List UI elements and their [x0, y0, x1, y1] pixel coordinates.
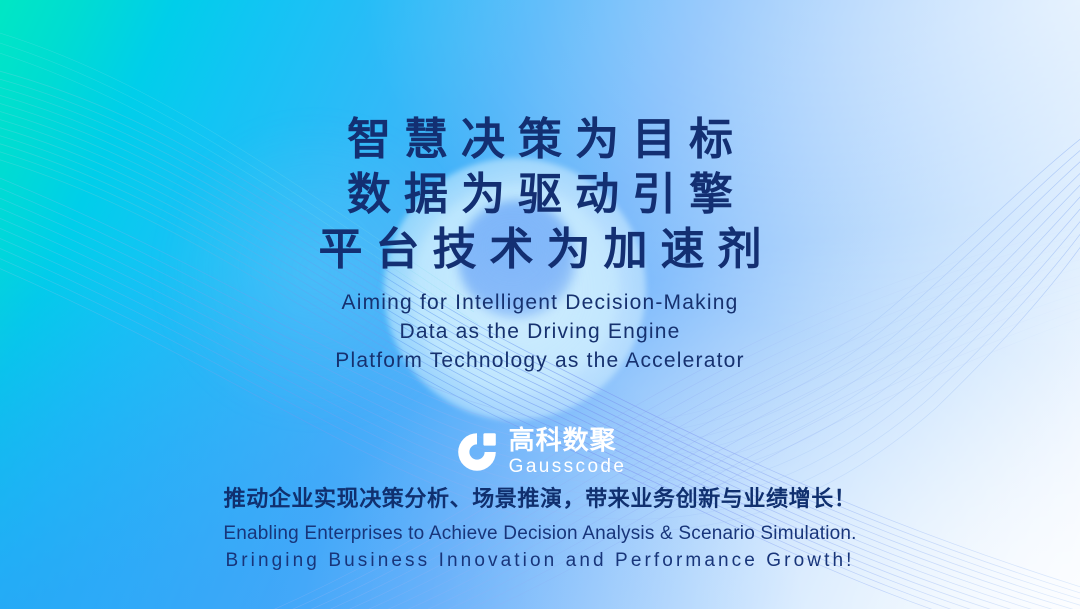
- tagline-block: 推动企业实现决策分析、场景推演，带来业务创新与业绩增长！ Enabling En…: [0, 485, 1080, 573]
- tagline-en-line2: Bringing Business Innovation and Perform…: [0, 548, 1080, 573]
- poster-canvas: 智慧决策为目标 数据为驱动引擎 平台技术为加速剂 Aiming for Inte…: [0, 0, 1080, 609]
- headline-chinese-block: 智慧决策为目标 数据为驱动引擎 平台技术为加速剂: [0, 112, 1080, 277]
- logo-name-cn: 高科数聚: [509, 428, 627, 454]
- headline-en-line-3: Platform Technology as the Accelerator: [0, 346, 1080, 375]
- gausscode-logo-mark-icon: [454, 429, 500, 475]
- headline-en-line-1: Aiming for Intelligent Decision-Making: [0, 288, 1080, 317]
- headline-english-block: Aiming for Intelligent Decision-Making D…: [0, 288, 1080, 375]
- headline-cn-line-3: 平台技术为加速剂: [0, 222, 1080, 277]
- logo-name-en: Gausscode: [509, 457, 627, 476]
- brand-logo: 高科数聚 Gausscode: [0, 428, 1080, 476]
- headline-cn-line-1: 智慧决策为目标: [0, 112, 1080, 167]
- tagline-en-line1: Enabling Enterprises to Achieve Decision…: [0, 521, 1080, 546]
- tagline-cn: 推动企业实现决策分析、场景推演，带来业务创新与业绩增长！: [0, 485, 1080, 515]
- headline-cn-line-2: 数据为驱动引擎: [0, 167, 1080, 222]
- logo-wordmark: 高科数聚 Gausscode: [509, 428, 627, 476]
- headline-en-line-2: Data as the Driving Engine: [0, 317, 1080, 346]
- poster-content: 智慧决策为目标 数据为驱动引擎 平台技术为加速剂 Aiming for Inte…: [0, 0, 1080, 609]
